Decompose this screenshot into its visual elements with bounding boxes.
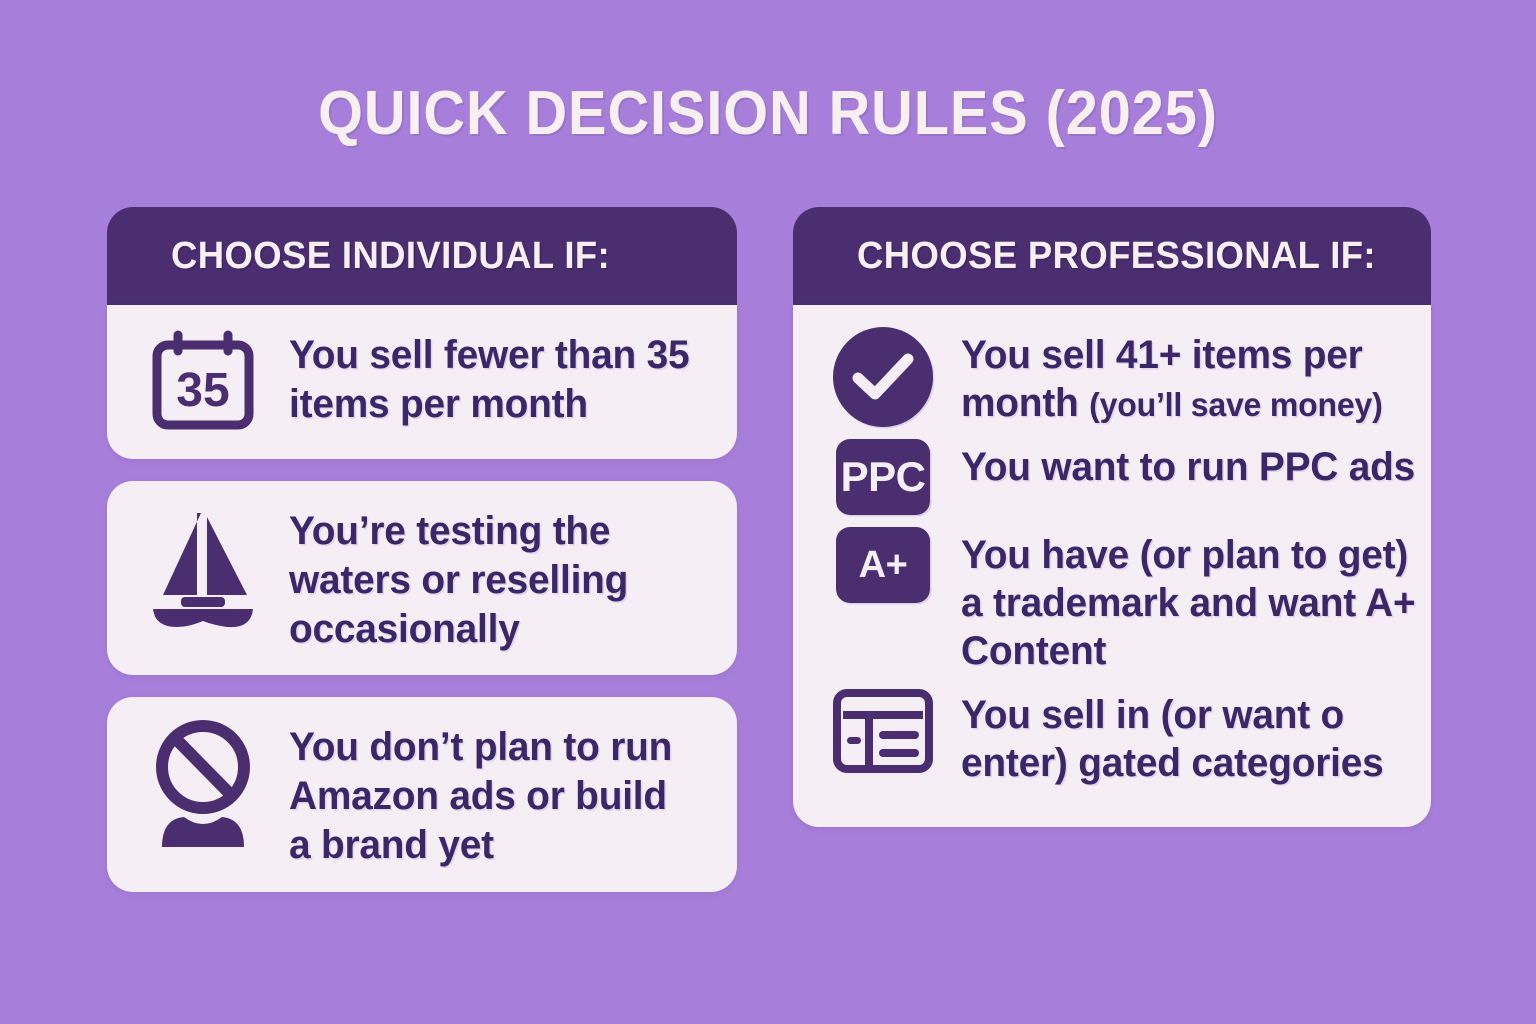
list-item[interactable]: A+ You have (or plan to get) a trademark…	[793, 521, 1431, 681]
check-circle-icon	[831, 327, 935, 427]
column-professional: CHOOSE PROFESSIONAL IF: You sell 41+ ite…	[793, 207, 1431, 827]
calendar-35-icon: 35	[143, 327, 263, 437]
sailboat-icon	[143, 503, 263, 629]
column-header-professional-label: CHOOSE PROFESSIONAL IF:	[857, 235, 1376, 278]
list-item[interactable]: You sell in (or want o enter) gated cate…	[793, 681, 1431, 793]
page-title: QUICK DECISION RULES (2025)	[54, 78, 1482, 149]
list-item-text: You sell fewer than 35 items per month	[289, 327, 698, 429]
ppc-badge-icon: PPC	[831, 439, 935, 515]
list-item-text: You’re testing the waters or reselling o…	[289, 503, 698, 653]
list-item[interactable]: PPC You want to run PPC ads	[793, 433, 1431, 521]
list-item-text: You want to run PPC ads	[961, 439, 1417, 491]
svg-text:35: 35	[176, 364, 229, 417]
column-header-individual-label: CHOOSE INDIVIDUAL IF:	[171, 235, 610, 278]
ppc-badge-label: PPC	[836, 439, 930, 515]
list-item-text: You don’t plan to run Amazon ads or buil…	[289, 719, 698, 869]
list-item-text: You have (or plan to get) a trademark an…	[961, 527, 1417, 675]
list-item-text: You sell in (or want o enter) gated cate…	[961, 687, 1417, 787]
column-header-professional: CHOOSE PROFESSIONAL IF:	[793, 207, 1431, 305]
list-item-text: You sell 41+ items per month (you’ll sav…	[961, 327, 1417, 427]
professional-card: You sell 41+ items per month (you’ll sav…	[793, 305, 1431, 827]
individual-card-list: 35 You sell fewer than 35 items per mont…	[107, 305, 737, 892]
column-header-individual: CHOOSE INDIVIDUAL IF:	[107, 207, 737, 305]
list-item[interactable]: You’re testing the waters or reselling o…	[107, 481, 737, 675]
a-plus-badge-icon: A+	[831, 527, 935, 603]
list-item[interactable]: You sell 41+ items per month (you’ll sav…	[793, 321, 1431, 433]
list-item[interactable]: You don’t plan to run Amazon ads or buil…	[107, 697, 737, 891]
gated-categories-layout-icon	[831, 687, 935, 775]
no-ads-prohibited-icon	[143, 719, 263, 851]
a-plus-badge-label: A+	[836, 527, 930, 603]
list-item-text-note: (you’ll save money)	[1089, 386, 1382, 423]
list-item[interactable]: 35 You sell fewer than 35 items per mont…	[107, 305, 737, 459]
column-individual: CHOOSE INDIVIDUAL IF: 35 You sell fewer …	[107, 207, 737, 892]
infographic-canvas: QUICK DECISION RULES (2025) CHOOSE INDIV…	[0, 0, 1536, 1024]
